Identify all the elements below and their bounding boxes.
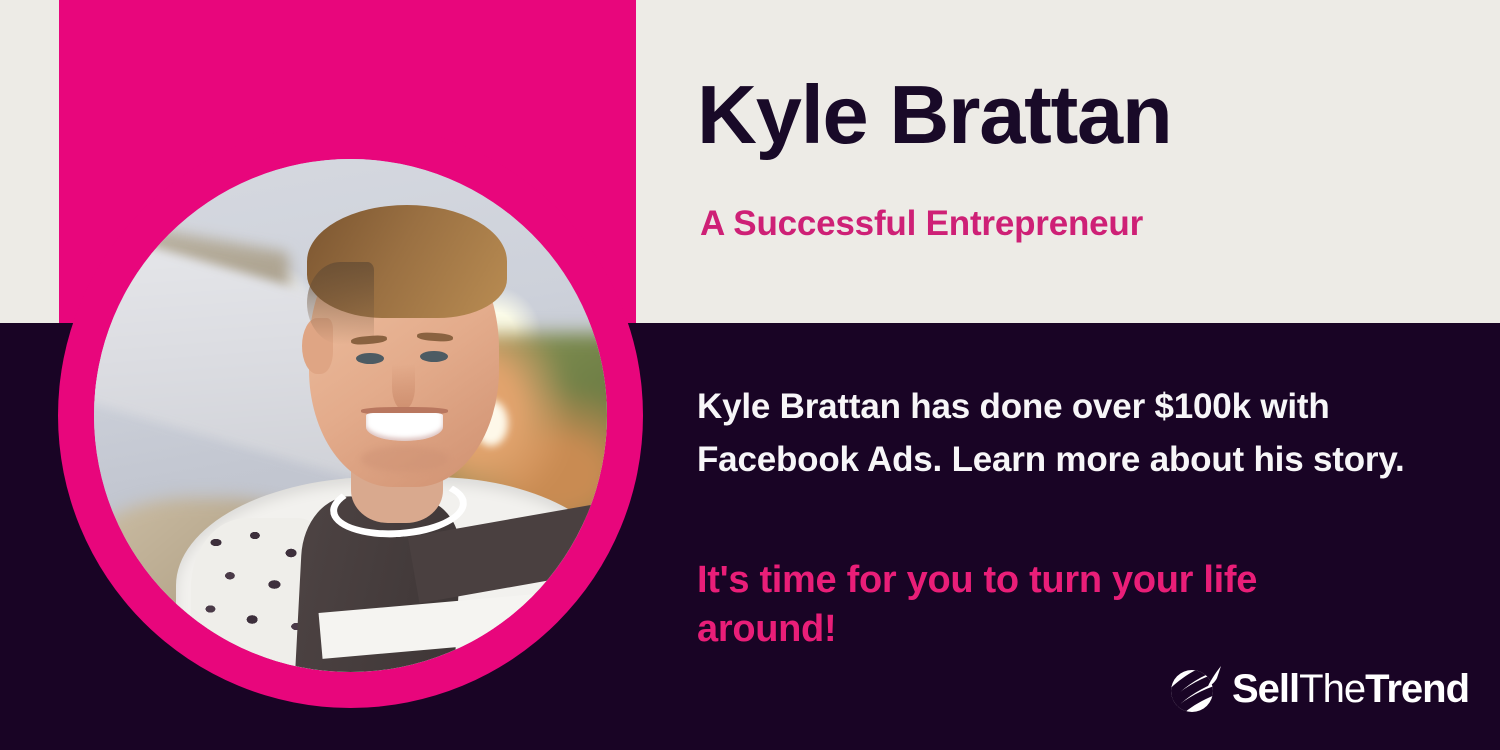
brand-word-trend: Trend: [1365, 667, 1469, 711]
call-to-action-text: It's time for you to turn your life arou…: [697, 556, 1317, 653]
brand-logo[interactable]: SellTheTrend: [1168, 664, 1469, 714]
subject-eye-right: [420, 351, 448, 362]
subject-chin: [361, 446, 448, 472]
avatar: [58, 123, 643, 708]
subject-hair-fade: [307, 262, 374, 344]
body-description: Kyle Brattan has done over $100k with Fa…: [697, 380, 1457, 486]
sphere-swoosh-icon: [1168, 664, 1222, 714]
portrait-subject: [94, 159, 607, 672]
portrait-photo: [94, 159, 607, 672]
subject-nose: [392, 364, 415, 410]
subject-eye-left: [356, 353, 384, 364]
page-title: Kyle Brattan: [697, 73, 1172, 156]
brand-word-the: The: [1299, 667, 1365, 711]
page-subtitle: A Successful Entrepreneur: [700, 203, 1143, 245]
brand-logo-text: SellTheTrend: [1232, 669, 1469, 709]
brand-word-sell: Sell: [1232, 667, 1299, 711]
promo-banner: Kyle Brattan A Successful Entrepreneur K…: [0, 0, 1500, 750]
subject-smile: [366, 413, 443, 441]
